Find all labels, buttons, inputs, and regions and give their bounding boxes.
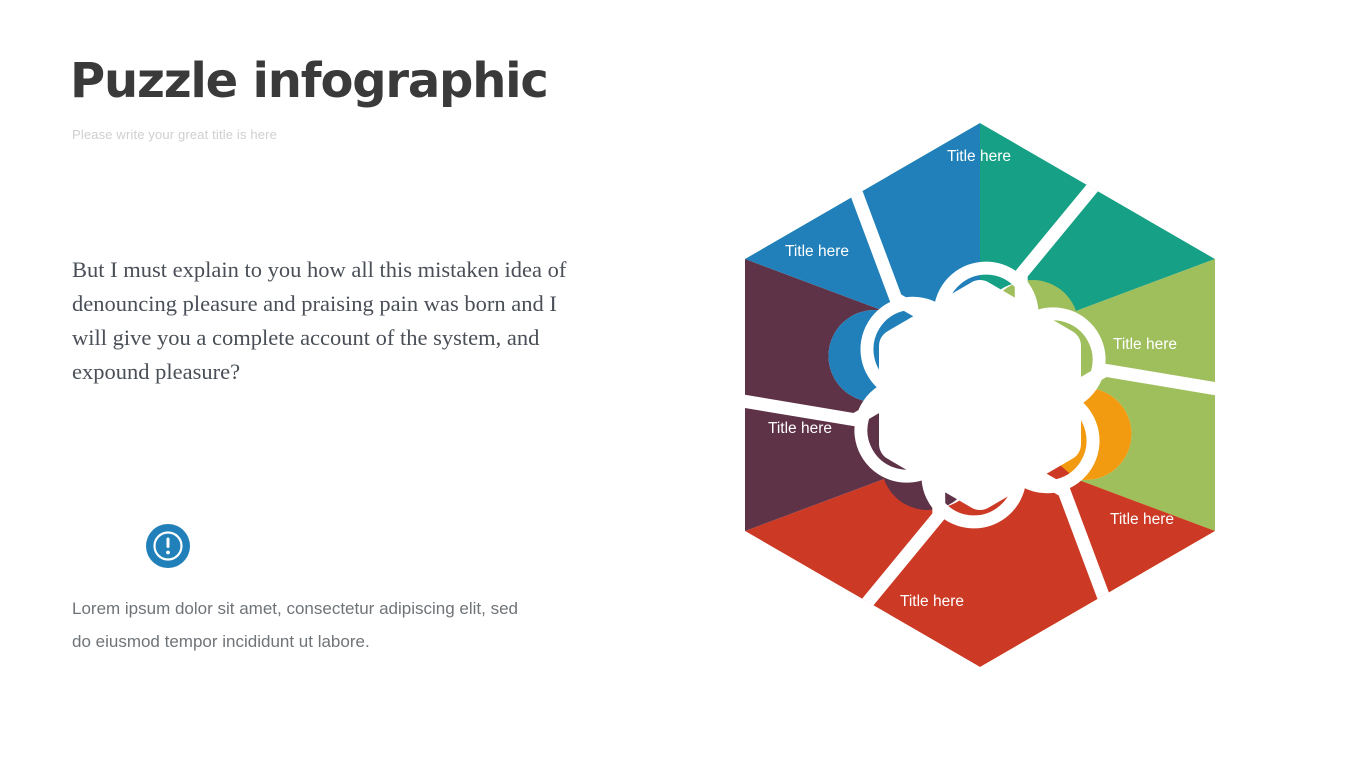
- info-icon-bar: [167, 538, 170, 549]
- page-title: Puzzle infographic: [70, 57, 548, 105]
- body-paragraph: But I must explain to you how all this m…: [72, 253, 592, 389]
- piece-bottom-label: Title here: [900, 593, 964, 610]
- piece-top-label: Title here: [947, 148, 1011, 165]
- hexagon-puzzle-diagram: Title here Title here Title here Title h…: [690, 75, 1270, 695]
- piece-bottom-left-label: Title here: [768, 420, 832, 437]
- piece-bottom-right-label: Title here: [1110, 511, 1174, 528]
- caption-paragraph: Lorem ipsum dolor sit amet, consectetur …: [72, 592, 532, 658]
- piece-top-right-label: Title here: [1113, 336, 1177, 353]
- piece-top-left-label: Title here: [785, 243, 849, 260]
- page-subtitle: Please write your great title is here: [72, 127, 277, 142]
- exclamation-circle-icon: [146, 524, 190, 568]
- info-icon-dot: [166, 551, 170, 555]
- left-content-panel: Puzzle infographic Please write your gre…: [70, 0, 630, 768]
- puzzle-center-hexagon: [896, 297, 1064, 493]
